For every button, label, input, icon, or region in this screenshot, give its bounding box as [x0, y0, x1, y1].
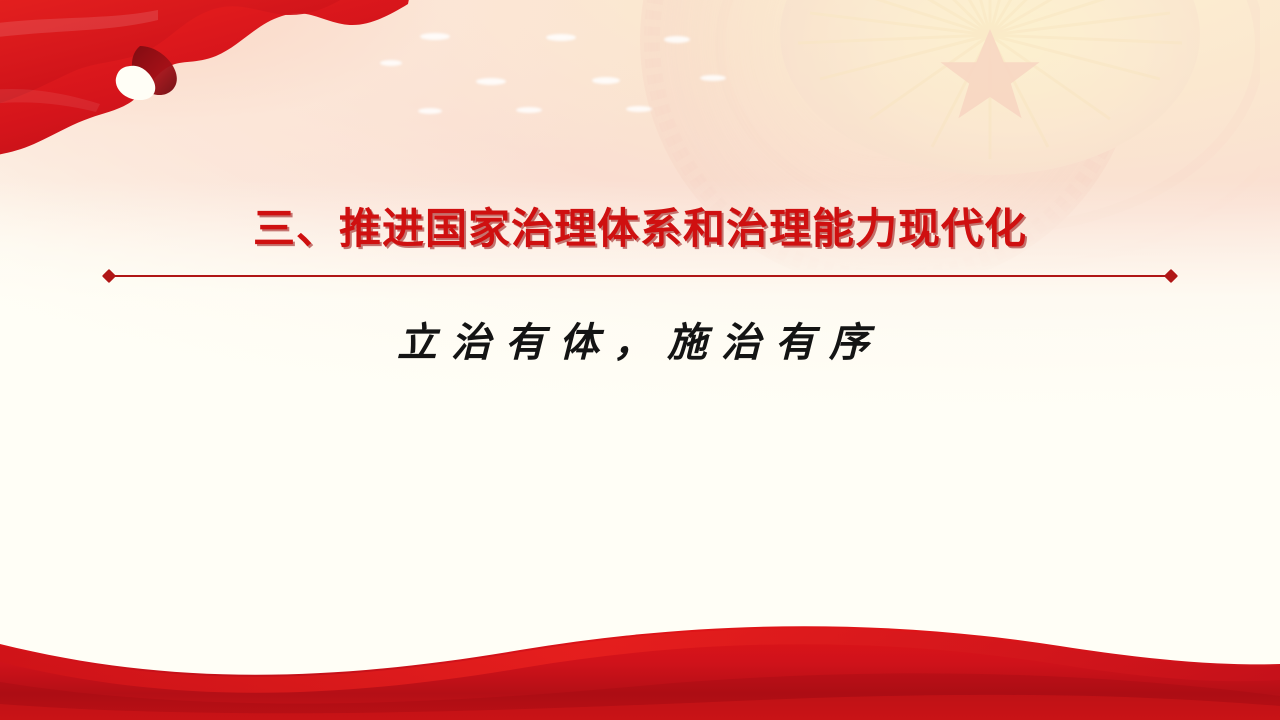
slide-content: 三、推进国家治理体系和治理能力现代化 立治有体，施治有序	[0, 205, 1280, 368]
title-divider	[104, 270, 1176, 282]
sparkle-blob	[420, 33, 450, 40]
red-silk-ribbon	[0, 0, 410, 194]
page-title: 三、推进国家治理体系和治理能力现代化	[0, 205, 1280, 252]
sparkle-blob	[516, 107, 542, 113]
divider-node-right	[1164, 269, 1178, 283]
sparkle-blob	[476, 78, 506, 85]
slide-subtitle: 立治有体，施治有序	[0, 310, 1280, 368]
sparkle-blob	[700, 75, 726, 81]
sparkle-blob	[592, 77, 620, 84]
sparkle-blob	[626, 106, 652, 112]
divider-rule	[110, 275, 1170, 277]
presentation-slide: 三、推进国家治理体系和治理能力现代化 立治有体，施治有序	[0, 0, 1280, 720]
sparkle-blob	[664, 36, 690, 43]
red-silk-wave	[0, 610, 1280, 720]
sparkle-blob	[418, 108, 442, 114]
sparkle-blob	[546, 34, 576, 41]
